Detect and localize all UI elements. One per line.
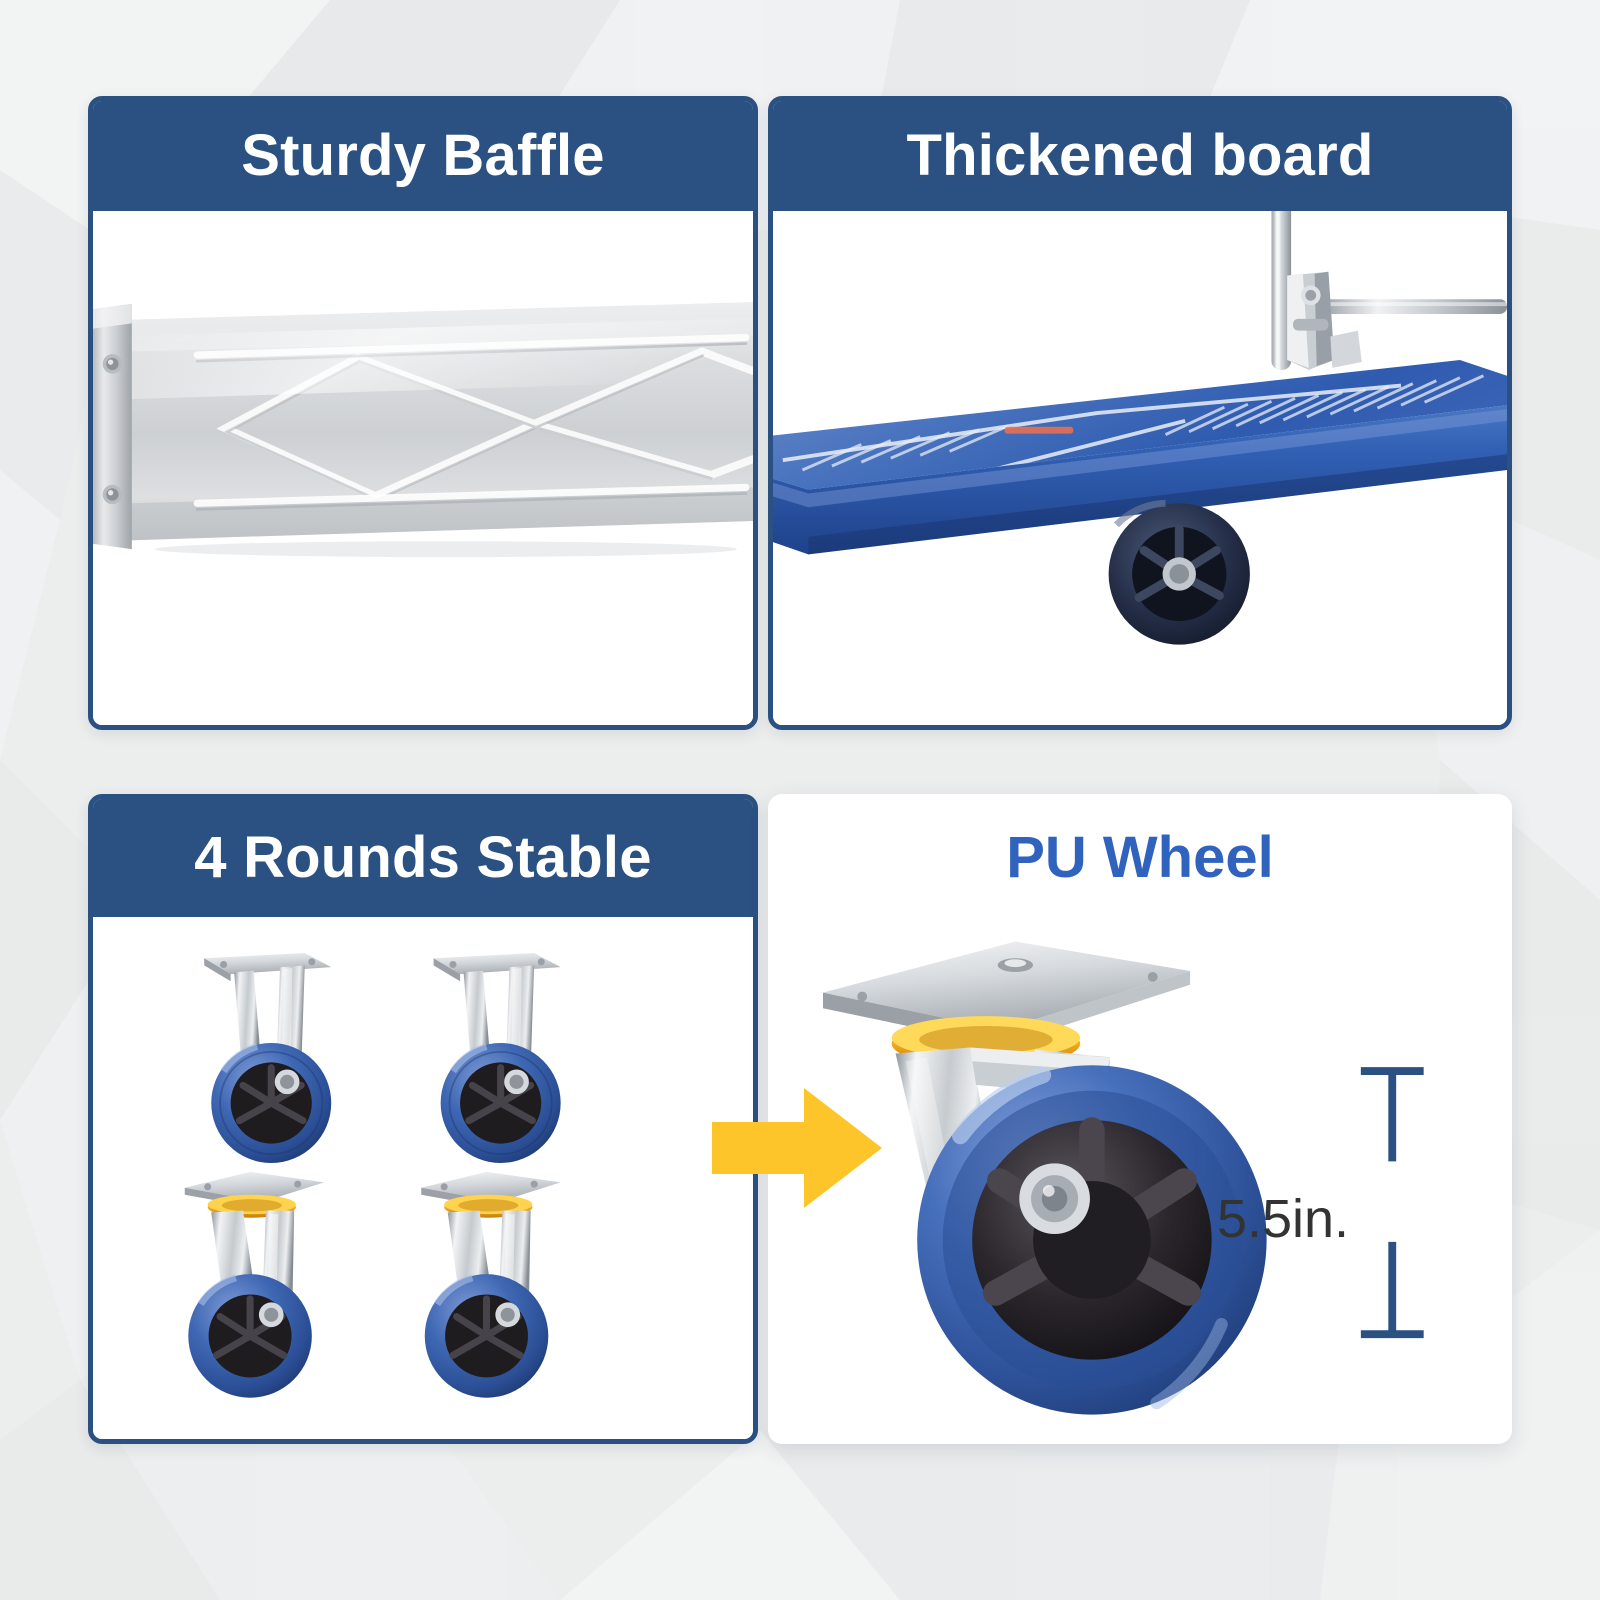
panel-image-pu-wheel: 5.5in. xyxy=(768,922,1512,1444)
panel-image-four-casters xyxy=(93,917,753,1439)
cart-wheel xyxy=(1109,503,1250,644)
caster-rigid-top-right xyxy=(434,953,561,1163)
four-casters-illustration xyxy=(93,917,753,1439)
panel-title-four-rounds-stable: 4 Rounds Stable xyxy=(93,799,753,917)
panel-image-sturdy-baffle xyxy=(93,211,753,725)
feature-grid: Sturdy Baffle xyxy=(0,0,1600,1600)
caster-swivel-bottom-right xyxy=(421,1172,560,1398)
panel-sturdy-baffle: Sturdy Baffle xyxy=(88,96,758,730)
baffle-illustration xyxy=(93,211,753,725)
panel-four-rounds-stable: 4 Rounds Stable xyxy=(88,794,758,1444)
caster-rigid-top-left xyxy=(204,953,331,1163)
dimension-label: 5.5in. xyxy=(768,1188,1512,1250)
card-sturdy-baffle: Sturdy Baffle xyxy=(88,96,758,730)
bracket-bolt xyxy=(103,354,122,373)
panel-title-thickened-board: Thickened board xyxy=(773,101,1507,211)
card-pu-wheel: PU Wheel xyxy=(768,794,1512,1444)
cart-deck-illustration xyxy=(773,211,1507,725)
panel-pu-wheel: PU Wheel xyxy=(768,794,1512,1444)
panel-title-sturdy-baffle: Sturdy Baffle xyxy=(93,101,753,211)
panel-thickened-board: Thickened board xyxy=(768,96,1512,730)
pu-wheel-illustration xyxy=(768,922,1512,1444)
panel-title-pu-wheel: PU Wheel xyxy=(768,794,1512,922)
panel-image-thickened-board xyxy=(773,211,1507,725)
card-four-rounds-stable: 4 Rounds Stable xyxy=(88,794,758,1444)
dimension-label-text: 5.5in. xyxy=(1217,1188,1349,1250)
bracket-bolt xyxy=(103,485,122,504)
caster-swivel-bottom-left xyxy=(185,1172,324,1398)
card-thickened-board: Thickened board xyxy=(768,96,1512,730)
